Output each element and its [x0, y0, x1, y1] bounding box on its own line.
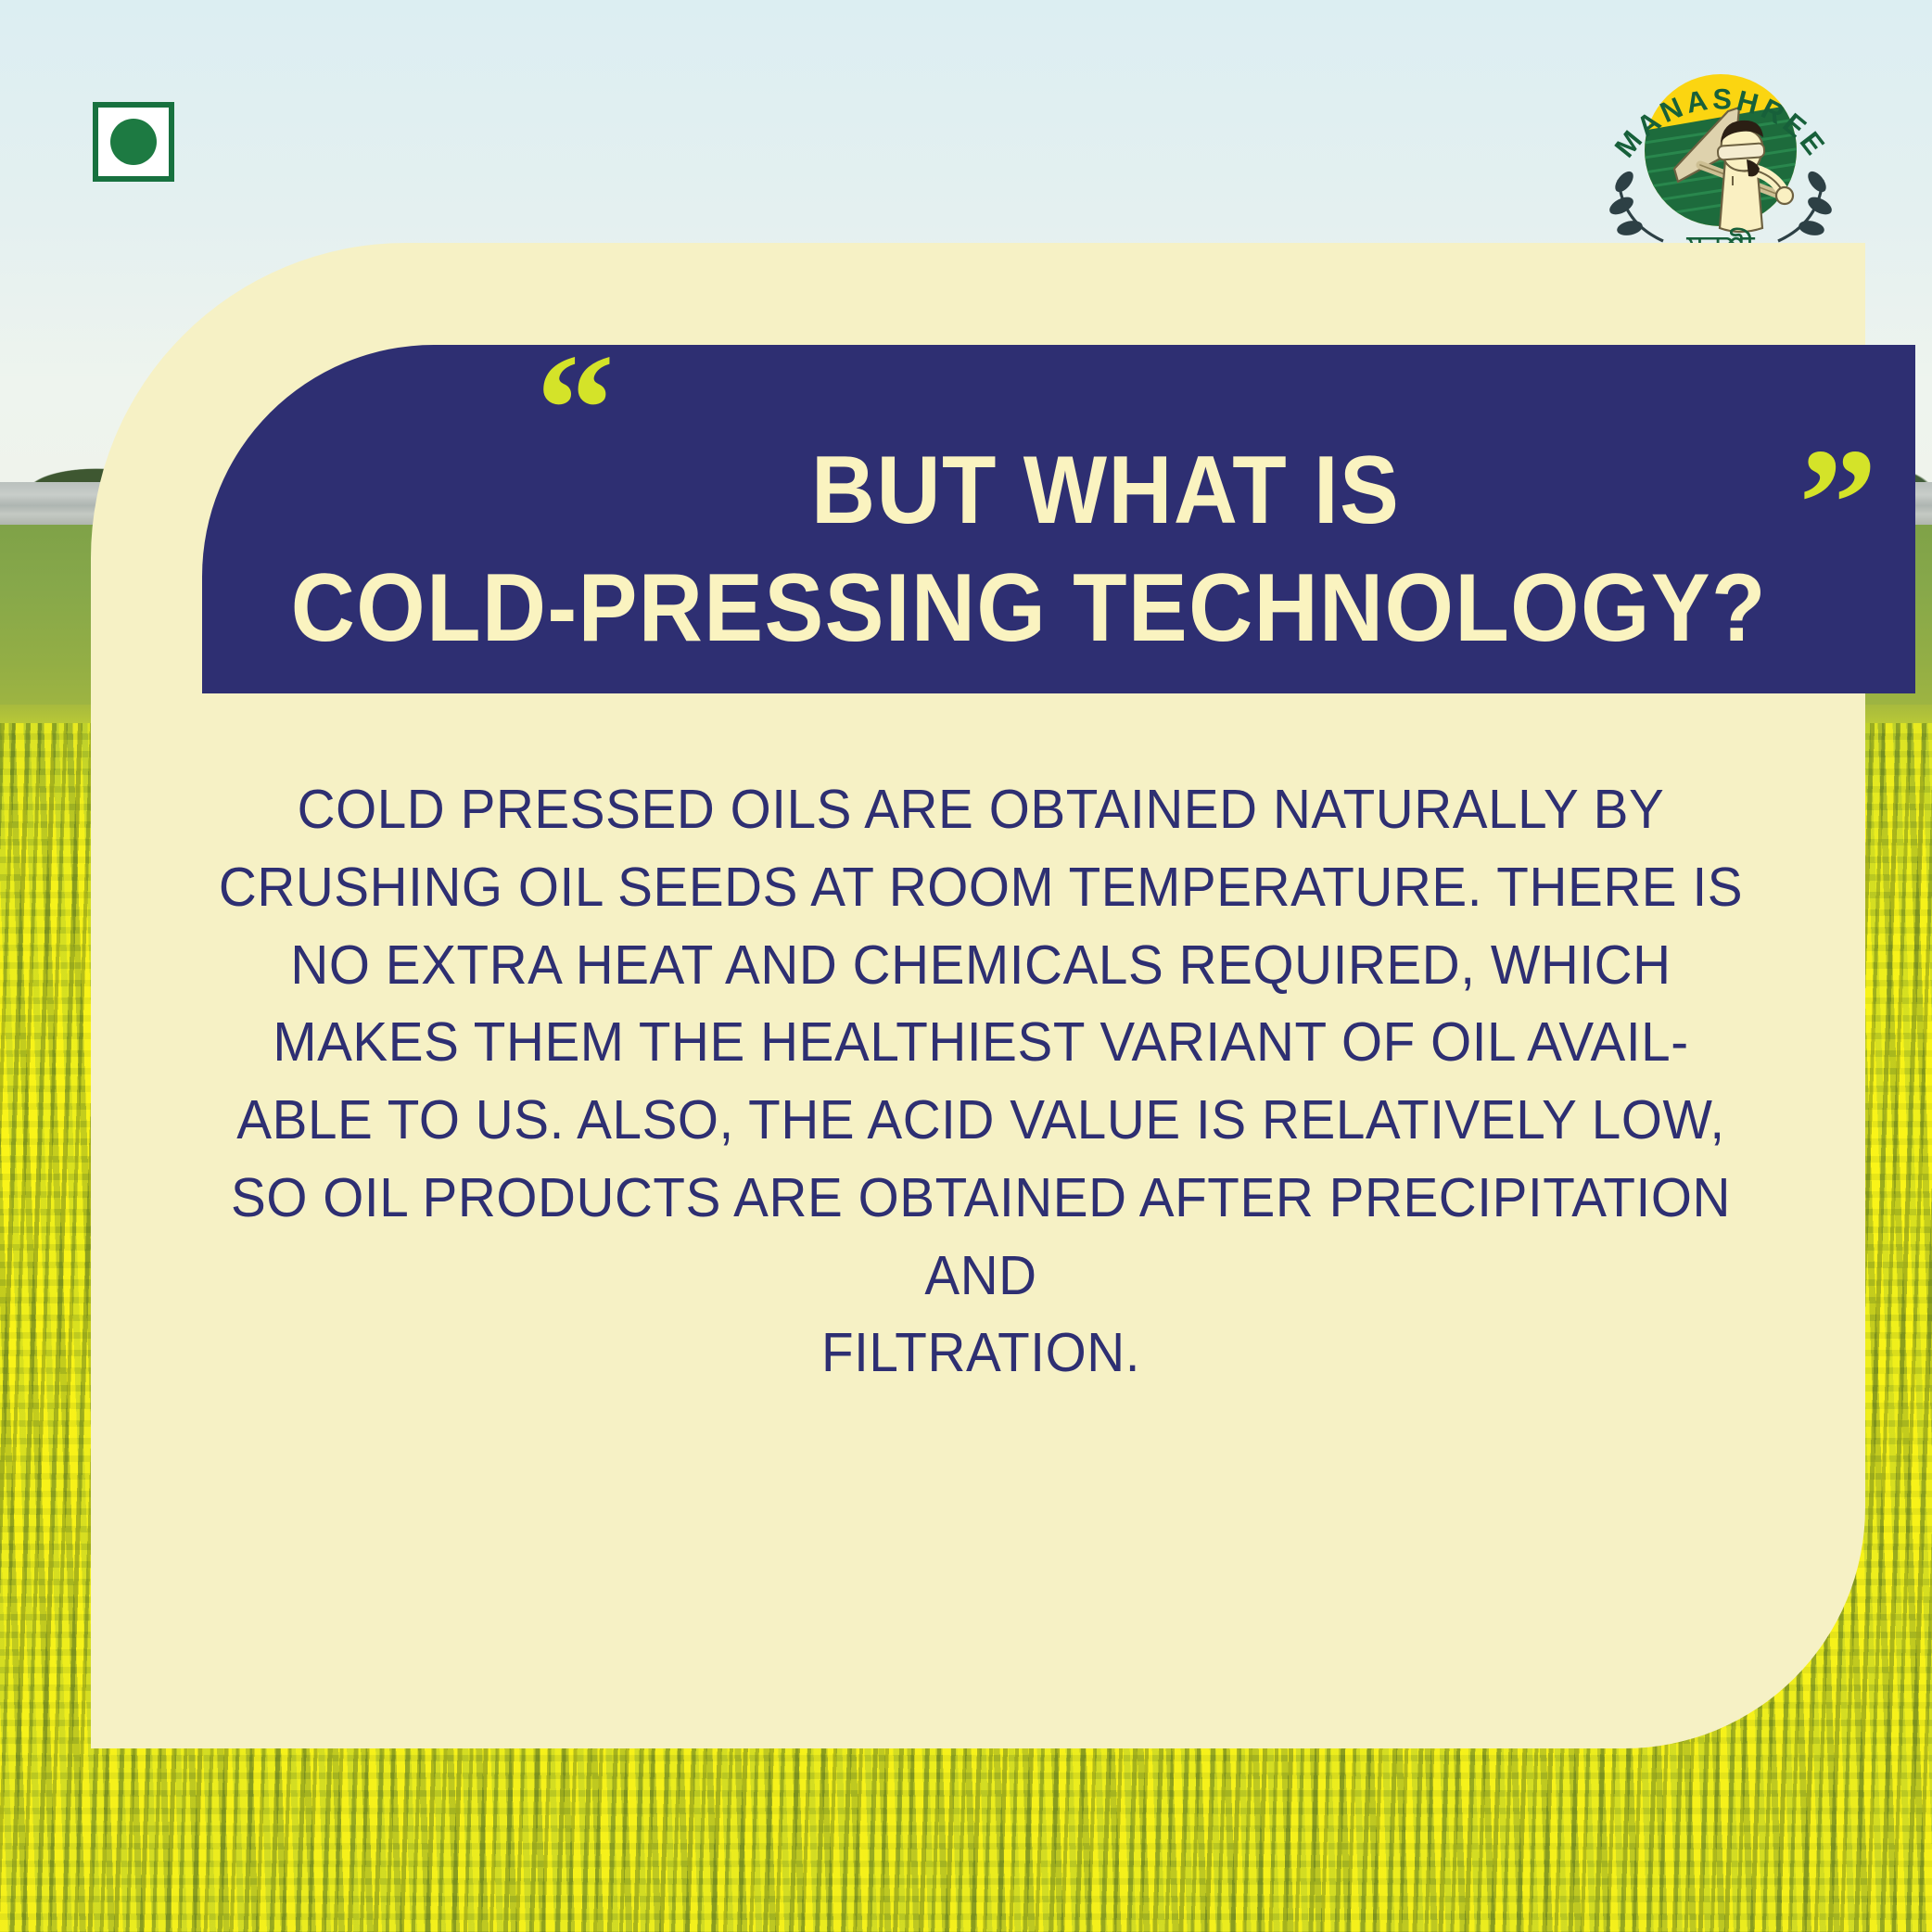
body-line: COLD PRESSED OILS ARE OBTAINED NATURALLY… [180, 771, 1782, 849]
body-line: CRUSHING OIL SEEDS AT ROOM TEMPERATURE. … [180, 849, 1782, 927]
headline-line-1: BUT WHAT IS [271, 432, 1847, 550]
page-title: BUT WHAT IS COLD-PRESSING TECHNOLOGY? [271, 432, 1847, 667]
body-line: ABLE TO US. ALSO, THE ACID VALUE IS RELA… [180, 1082, 1782, 1160]
body-paragraph: COLD PRESSED OILS ARE OBTAINED NATURALLY… [180, 771, 1782, 1392]
poster-canvas: MANASHREE মনশ্রী “ ” [0, 0, 1932, 1932]
content-card: “ ” BUT WHAT IS COLD-PRESSING TECHNOLOGY… [91, 243, 1865, 1748]
body-line: AND [180, 1238, 1782, 1316]
body-line: SO OIL PRODUCTS ARE OBTAINED AFTER PRECI… [180, 1160, 1782, 1238]
headline-line-2: COLD-PRESSING TECHNOLOGY? [271, 550, 1847, 667]
vegetarian-mark-icon [93, 102, 174, 182]
body-copy: COLD PRESSED OILS ARE OBTAINED NATURALLY… [180, 771, 1782, 1392]
body-line: NO EXTRA HEAT AND CHEMICALS REQUIRED, WH… [180, 927, 1782, 1005]
body-line: MAKES THEM THE HEALTHIEST VARIANT OF OIL… [180, 1004, 1782, 1082]
vegetarian-mark-dot [110, 119, 157, 165]
brand-logo: MANASHREE মনশ্রী [1582, 41, 1860, 273]
headline-block: “ ” BUT WHAT IS COLD-PRESSING TECHNOLOGY… [202, 345, 1915, 693]
body-line: FILTRATION. [180, 1315, 1782, 1392]
